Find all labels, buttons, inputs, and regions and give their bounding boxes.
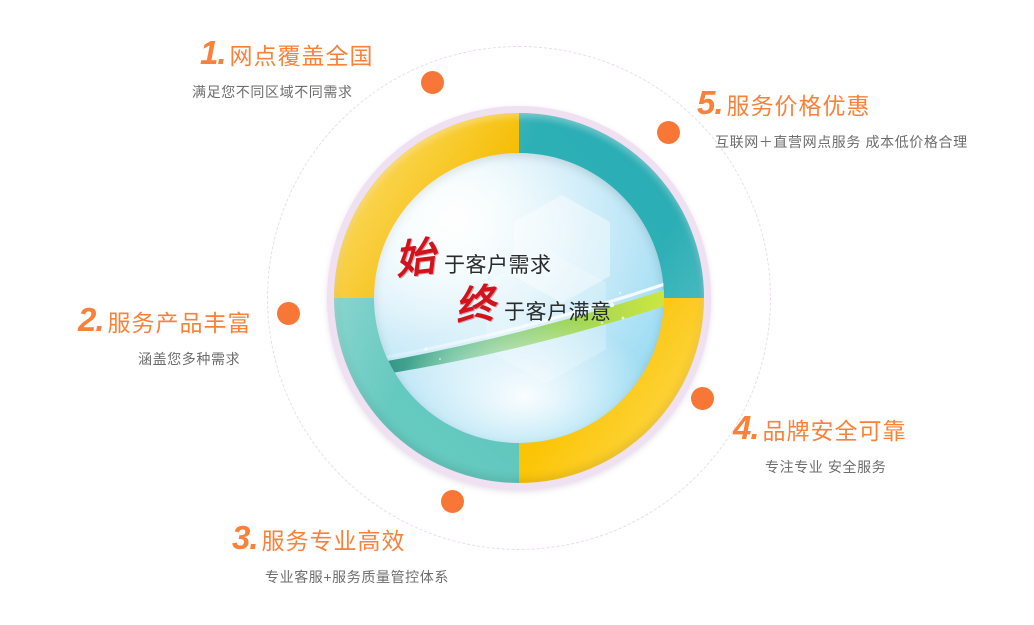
callout-2-heading: 2. 服务产品丰富 [78, 303, 252, 336]
callout-2-number: 2. [78, 303, 104, 336]
callout-3-number: 3. [232, 521, 258, 554]
callout-3-subtitle: 专业客服+服务质量管控体系 [265, 567, 449, 587]
orbit-dot-bottom [441, 490, 464, 513]
callout-4-heading: 4. 品牌安全可靠 [733, 411, 907, 444]
center-circle-graphic: 始 于客户需求 终 于客户满意 [327, 106, 711, 490]
callout-2: 2. 服务产品丰富 涵盖您多种需求 [78, 303, 252, 369]
callout-3-title: 服务专业高效 [262, 530, 406, 553]
callout-5: 5. 服务价格优惠 互联网＋直营网点服务 成本低价格合理 [697, 86, 968, 152]
callout-5-title: 服务价格优惠 [727, 95, 871, 118]
callout-4-subtitle: 专注专业 安全服务 [765, 457, 907, 477]
callout-2-subtitle: 涵盖您多种需求 [138, 349, 252, 369]
callout-1-number: 1. [200, 36, 226, 69]
callout-4-number: 4. [733, 411, 759, 444]
inner-sphere [374, 153, 664, 443]
callout-4: 4. 品牌安全可靠 专注专业 安全服务 [733, 411, 907, 477]
callout-1: 1. 网点覆盖全国 满足您不同区域不同需求 [200, 36, 374, 102]
callout-1-subtitle: 满足您不同区域不同需求 [192, 82, 374, 102]
callout-5-subtitle: 互联网＋直营网点服务 成本低价格合理 [715, 132, 968, 152]
callout-5-heading: 5. 服务价格优惠 [697, 86, 968, 119]
callout-3-heading: 3. 服务专业高效 [232, 521, 449, 554]
callout-4-title: 品牌安全可靠 [763, 420, 907, 443]
callout-5-number: 5. [697, 86, 723, 119]
infographic-canvas: 始 于客户需求 终 于客户满意 1. 网点覆盖全国 满足您不同区域不同需求 2.… [0, 0, 1034, 625]
callout-1-title: 网点覆盖全国 [230, 45, 374, 68]
orbit-dot-top [421, 71, 444, 94]
callout-1-heading: 1. 网点覆盖全国 [200, 36, 374, 69]
orbit-dot-left [277, 302, 300, 325]
callout-2-title: 服务产品丰富 [108, 312, 252, 335]
sphere-sparkles [374, 153, 664, 443]
callout-3: 3. 服务专业高效 专业客服+服务质量管控体系 [232, 521, 449, 587]
